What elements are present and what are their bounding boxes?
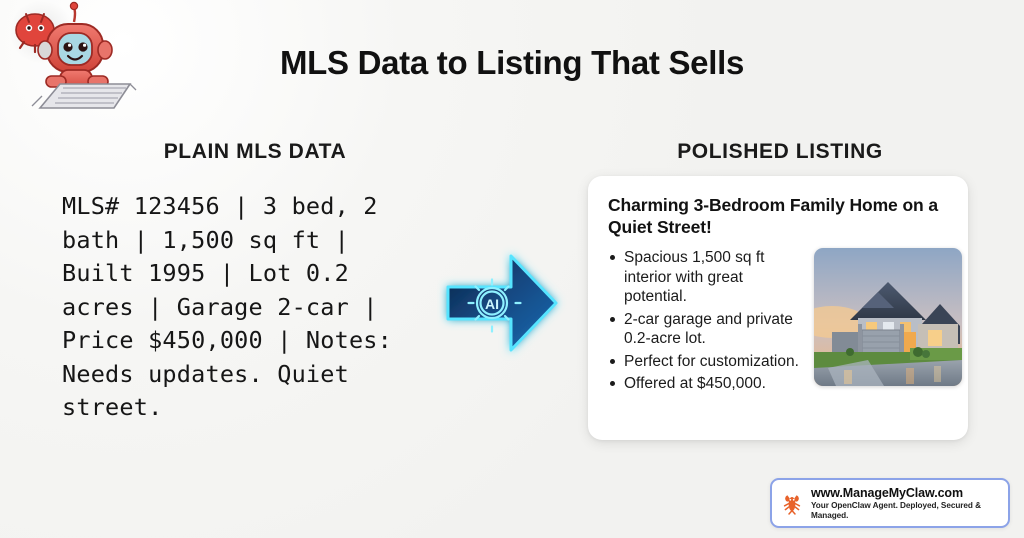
raw-mls-data-text: MLS# 123456 | 3 bed, 2 bath | 1,500 sq f… [62,190,422,425]
left-column-heading: PLAIN MLS DATA [95,140,415,164]
ai-label: AI [485,296,499,312]
listing-bullet-list: Spacious 1,500 sq ft interior with great… [608,248,804,397]
watermark-tagline: Your OpenClaw Agent. Deployed, Secured &… [811,501,998,520]
polished-listing-card: Charming 3-Bedroom Family Home on a Quie… [588,176,968,440]
keyboard-icon [32,84,136,108]
ai-gear-arrow-icon: AI [437,240,567,366]
right-column-heading: POLISHED LISTING [620,140,940,164]
listing-headline: Charming 3-Bedroom Family Home on a Quie… [608,194,948,238]
list-item: Offered at $450,000. [608,374,804,394]
list-item: 2-car garage and private 0.2-acre lot. [608,310,804,349]
list-item: Perfect for customization. [608,352,804,372]
watermark-badge[interactable]: www.ManageMyClaw.com Your OpenClaw Agent… [770,478,1010,528]
page-title: MLS Data to Listing That Sells [0,44,1024,82]
slide-canvas: MLS Data to Listing That Sells PLAIN MLS… [0,0,1024,538]
lobster-icon [782,491,802,515]
list-item: Spacious 1,500 sq ft interior with great… [608,248,804,307]
house-photo [814,248,962,386]
watermark-url[interactable]: www.ManageMyClaw.com [811,486,998,500]
